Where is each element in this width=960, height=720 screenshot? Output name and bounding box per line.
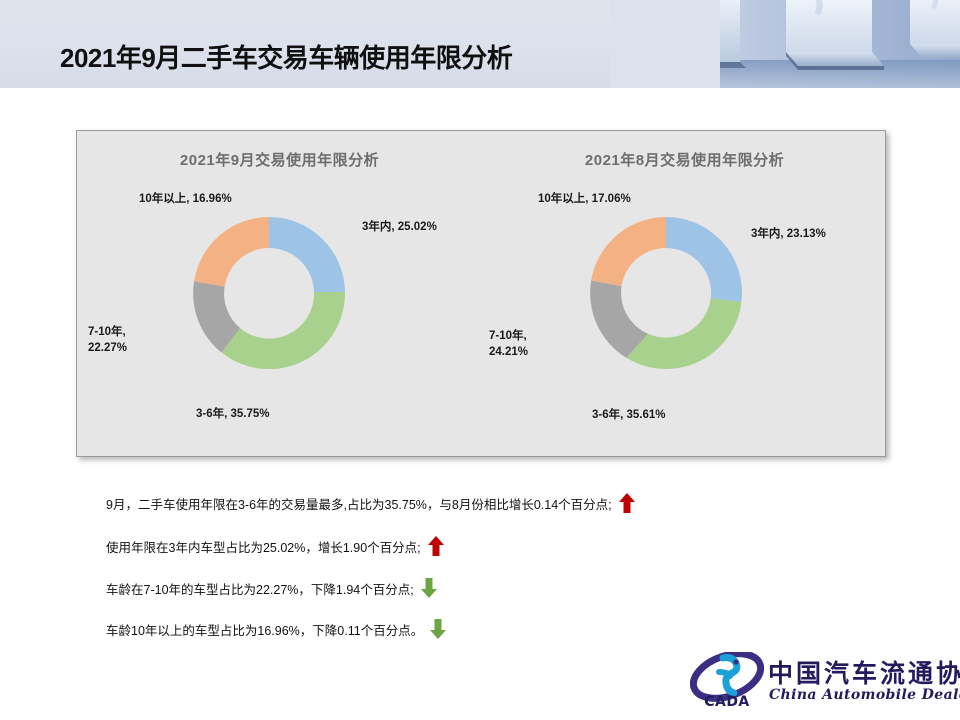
cada-emblem-icon: CADA xyxy=(690,652,764,710)
bullet-item: 车龄在7-10年的车型占比为22.27%，下降1.94个百分点; xyxy=(106,577,438,599)
slice-10-plus-years xyxy=(194,217,269,287)
up-arrow-icon xyxy=(427,535,445,557)
cada-mark-text: CADA xyxy=(704,694,750,710)
cada-logo: CADA 中国汽车流通协会 China Automobile Dealers A… xyxy=(690,650,952,712)
label-10-plus-years-september: 10年以上, 16.96% xyxy=(139,192,232,208)
logo-name-cn: 中国汽车流通协会 xyxy=(768,654,960,690)
chart-title-september: 2021年9月交易使用年限分析 xyxy=(77,149,482,170)
label-3-6-years-september: 3-6年, 35.75% xyxy=(196,407,270,423)
label-7-10-years-august: 7-10年, 24.21% xyxy=(489,329,559,360)
bullet-item: 使用年限在3年内车型占比为25.02%，增长1.90个百分点; xyxy=(106,535,445,557)
bullet-text: 车龄在7-10年的车型占比为22.27%，下降1.94个百分点; xyxy=(106,579,414,598)
bullet-text: 车龄10年以上的车型占比为16.96%，下降0.11个百分点。 xyxy=(106,620,423,639)
bullet-item: 车龄10年以上的车型占比为16.96%，下降0.11个百分点。 xyxy=(106,618,447,640)
label-3-years-september: 3年内, 25.02% xyxy=(362,220,437,236)
donut-chart-august xyxy=(590,217,742,369)
chart-title-august: 2021年8月交易使用年限分析 xyxy=(482,149,887,170)
label-7-10-years-september: 7-10年, 22.27% xyxy=(88,325,158,356)
label-3-years-august: 3年内, 23.13% xyxy=(751,227,826,243)
down-arrow-icon xyxy=(420,577,438,599)
slice-3-years xyxy=(666,217,742,302)
page-title: 2021年9月二手车交易车辆使用年限分析 xyxy=(60,38,512,75)
chart-august: 2021年8月交易使用年限分析 3年内, 23.13% 3-6年, 35.61%… xyxy=(482,131,887,458)
slide-header: 2021年9月二手车交易车辆使用年限分析 xyxy=(0,0,960,88)
bullet-item: 9月，二手车使用年限在3-6年的交易量最多,占比为35.75%，与8月份相比增长… xyxy=(106,492,636,514)
down-arrow-icon xyxy=(429,618,447,640)
slice-10-plus-years xyxy=(591,217,666,286)
chart-september: 2021年9月交易使用年限分析 3年内, 25.02% 3-6年, 35.75%… xyxy=(77,131,482,458)
label-3-6-years-august: 3-6年, 35.61% xyxy=(592,408,666,424)
slice-3-6-years xyxy=(222,292,346,369)
up-arrow-icon xyxy=(618,492,636,514)
bullet-text: 使用年限在3年内车型占比为25.02%，增长1.90个百分点; xyxy=(106,537,421,556)
charts-panel: 2021年9月交易使用年限分析 3年内, 25.02% 3-6年, 35.75%… xyxy=(76,130,886,457)
donut-chart-september xyxy=(193,217,345,369)
bullet-text: 9月，二手车使用年限在3-6年的交易量最多,占比为35.75%，与8月份相比增长… xyxy=(106,494,612,513)
logo-name-en: China Automobile Dealers Association xyxy=(769,687,960,703)
label-10-plus-years-august: 10年以上, 17.06% xyxy=(538,192,631,208)
blue-cubes-decoration-icon xyxy=(610,0,960,88)
slice-3-years xyxy=(269,217,345,292)
